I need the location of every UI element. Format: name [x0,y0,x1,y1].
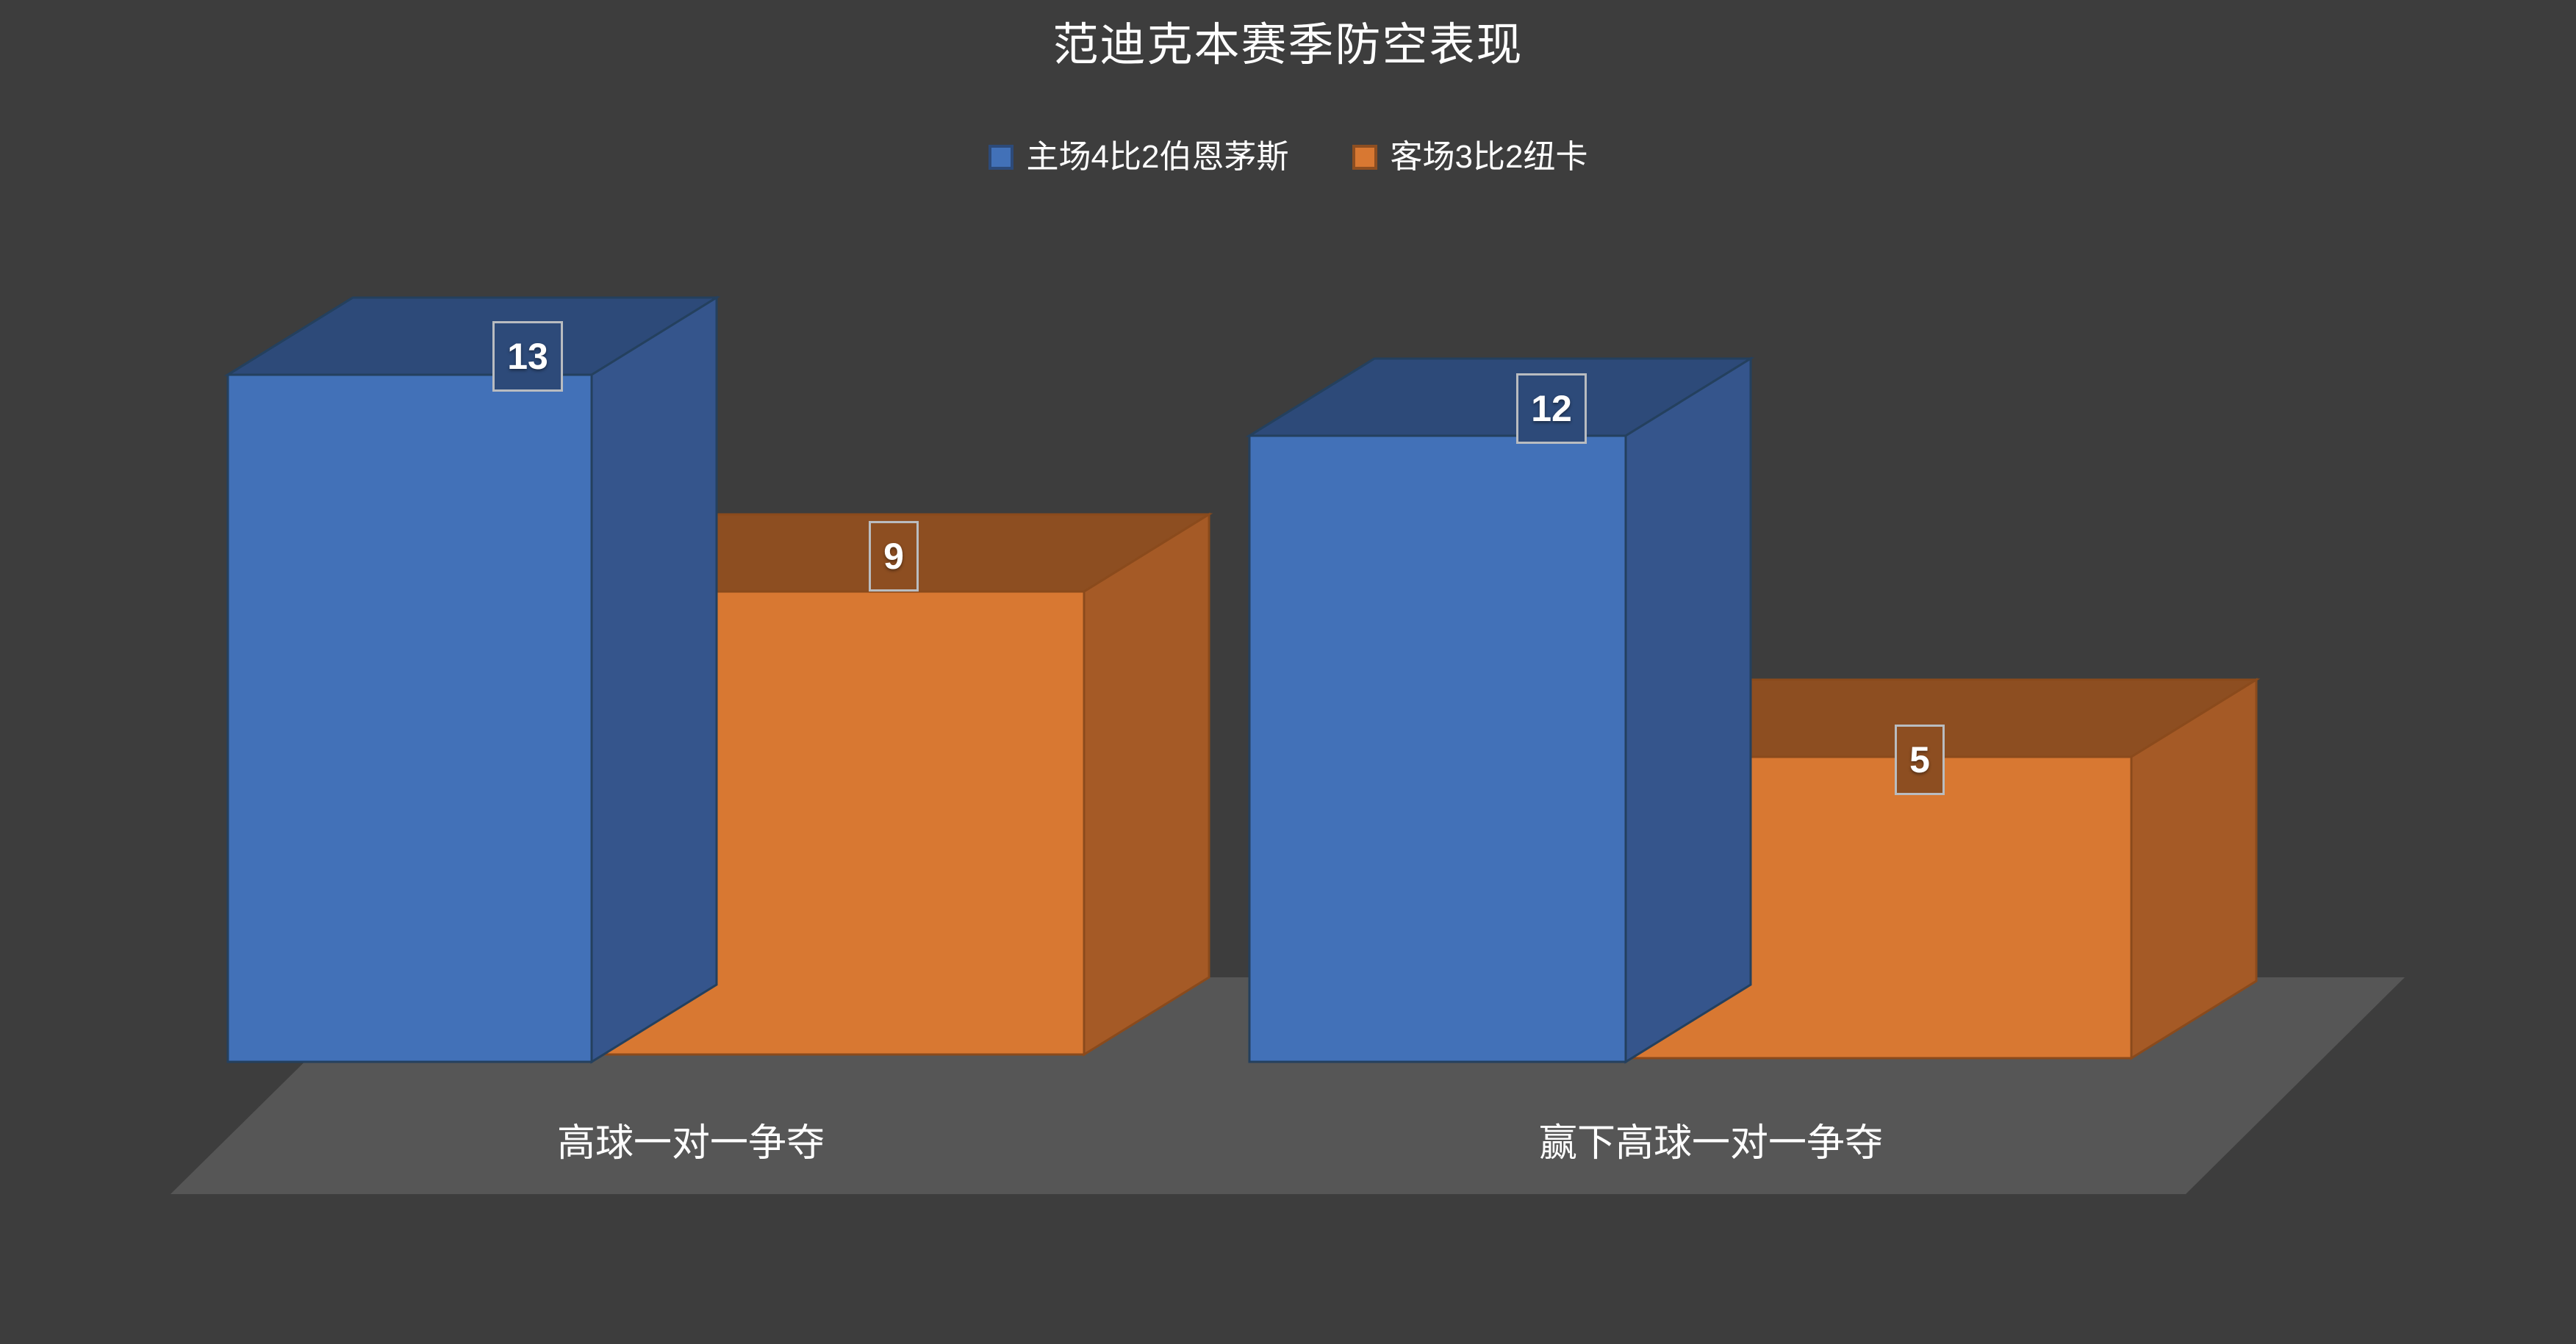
bar-side-face [1084,514,1209,1054]
bar-side-face [592,298,717,1062]
legend-label-away: 客场3比2纽卡 [1391,138,1588,176]
chart-canvas: 范迪克本赛季防空表现 主场4比2伯恩茅斯 客场3比2纽卡 [0,0,2576,1344]
legend-item-home[interactable]: 主场4比2伯恩茅斯 [989,138,1289,176]
category-label-1: 高球一对一争夺 [557,1121,825,1166]
legend-swatch-blue-icon [989,145,1013,170]
bar-front-face [1249,436,1626,1062]
data-label-group2-away: 5 [1895,725,1945,795]
bar-group1-series1-home[interactable] [228,298,853,1084]
legend-swatch-orange-icon [1352,145,1377,170]
legend-item-away[interactable]: 客场3比2纽卡 [1352,138,1588,176]
page-title: 范迪克本赛季防空表现 [0,16,2576,75]
data-label-group2-home: 12 [1516,373,1587,444]
legend-label-home: 主场4比2伯恩茅斯 [1027,138,1289,176]
data-label-group1-away: 9 [869,521,919,592]
bar-front-face [228,375,592,1062]
data-label-group1-home: 13 [492,321,563,392]
category-label-2: 赢下高球一对一争夺 [1539,1121,1883,1166]
bar-group2-series1-home[interactable] [1249,359,1896,1086]
bar-side-face [1626,359,1751,1062]
